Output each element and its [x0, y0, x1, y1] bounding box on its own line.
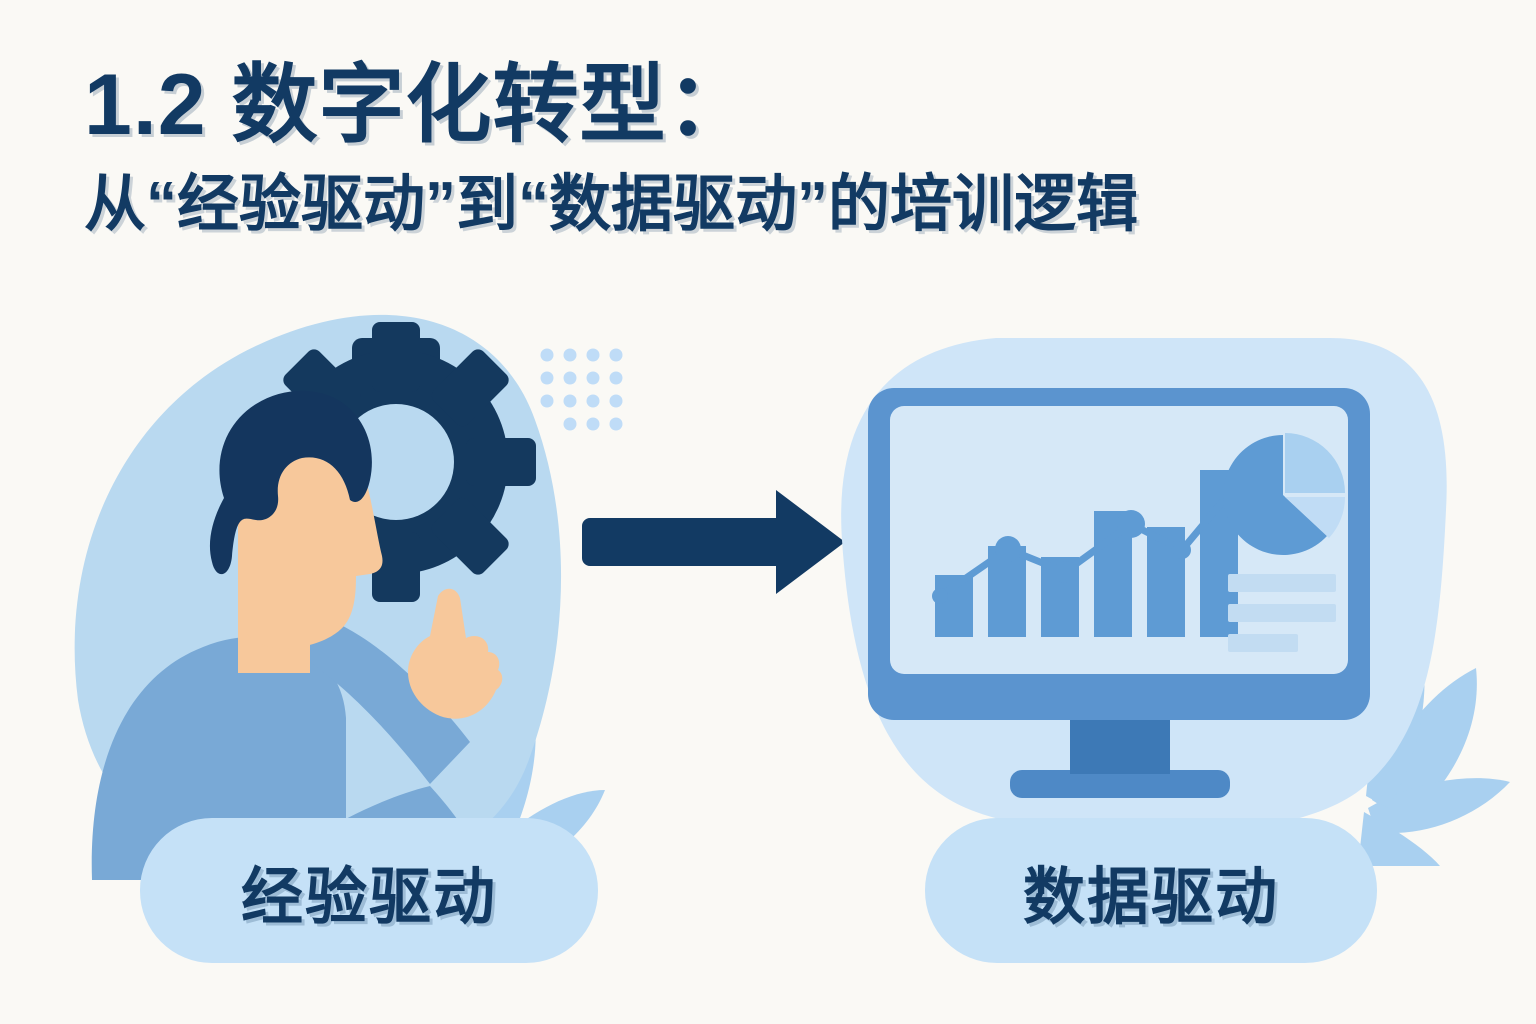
pill-label-experience-driven: 经验驱动 — [241, 846, 497, 936]
monitor-base — [1010, 770, 1230, 798]
label-pill-data-driven: 数据驱动 — [925, 818, 1377, 963]
line-marker-4 — [1117, 510, 1145, 538]
placeholder-row-1 — [1228, 574, 1336, 592]
pill-label-data-driven: 数据驱动 — [1023, 846, 1279, 936]
line-marker-3 — [1054, 561, 1076, 583]
page-title: 1.2 数字化转型： — [84, 62, 1384, 150]
dot-grid-decoration — [541, 349, 623, 431]
left-scene — [75, 315, 623, 884]
page-subtitle: 从“经验驱动”到“数据驱动”的培训逻辑 — [84, 172, 1384, 237]
line-marker-1 — [932, 588, 948, 604]
slide-root: 1.2 数字化转型： 从“经验驱动”到“数据驱动”的培训逻辑 经验驱动 数据驱动 — [0, 0, 1536, 1024]
right-scene — [841, 338, 1510, 866]
placeholder-row-3 — [1228, 634, 1298, 652]
line-marker-5 — [1173, 541, 1191, 559]
line-marker-2 — [995, 536, 1021, 562]
transition-arrow — [582, 490, 845, 594]
label-pill-experience-driven: 经验驱动 — [140, 818, 598, 963]
heading-block: 1.2 数字化转型： 从“经验驱动”到“数据驱动”的培训逻辑 — [84, 62, 1384, 237]
monitor-neck — [1070, 712, 1170, 774]
placeholder-row-2 — [1228, 604, 1336, 622]
